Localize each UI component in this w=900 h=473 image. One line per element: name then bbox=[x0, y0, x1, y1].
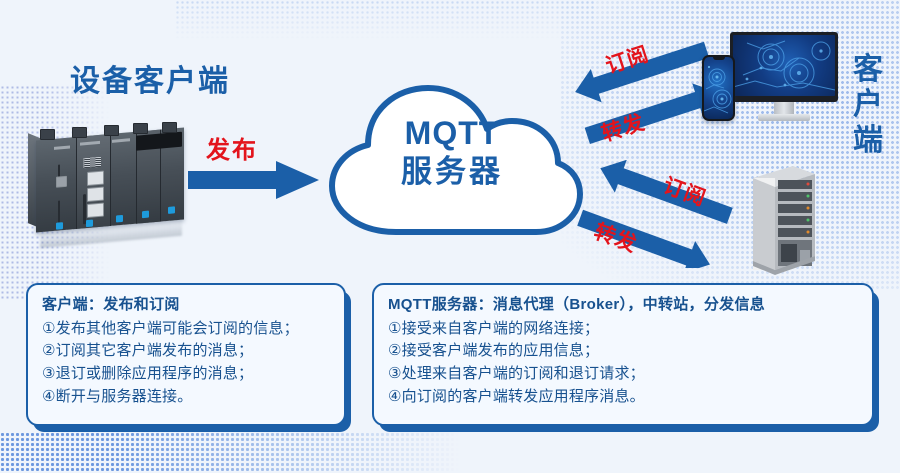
client-box-title: 客户端：发布和订阅 bbox=[42, 294, 332, 317]
monitor-bezel bbox=[730, 32, 838, 102]
monitor-stand-base bbox=[758, 114, 810, 121]
client-title-char-2: 户 bbox=[852, 87, 886, 122]
client-box-line-2: ②订阅其它客户端发布的消息； bbox=[42, 340, 332, 363]
client-box-line-1: ①发布其他客户端可能会订阅的信息； bbox=[42, 318, 332, 341]
server-rack-image bbox=[745, 160, 821, 278]
server-info-box: MQTT服务器：消息代理（Broker），中转站，分发信息 ①接受来自客户端的网… bbox=[372, 283, 874, 426]
plc-mount-tab bbox=[72, 127, 87, 138]
plc-device-image bbox=[28, 122, 188, 232]
publish-arrow-icon bbox=[188, 160, 320, 200]
monitor-stand-neck bbox=[774, 102, 794, 114]
diagram-canvas: 设备客户端 bbox=[0, 0, 900, 473]
subscribe-forward-arrows-bottom bbox=[576, 160, 736, 268]
cloud-line2: 服务器 bbox=[318, 153, 586, 192]
server-box-title: MQTT服务器：消息代理（Broker），中转站，分发信息 bbox=[388, 294, 860, 317]
halftone-pattern-top bbox=[175, 0, 595, 40]
cloud-label: MQTT 服务器 bbox=[318, 113, 586, 192]
cloud-line1: MQTT bbox=[318, 113, 586, 153]
monitor-image bbox=[730, 32, 838, 128]
client-box-line-4: ④断开与服务器连接。 bbox=[42, 386, 332, 409]
client-info-box: 客户端：发布和订阅 ①发布其他客户端可能会订阅的信息； ②订阅其它客户端发布的消… bbox=[26, 283, 346, 426]
client-box-line-3: ③退订或删除应用程序的消息； bbox=[42, 363, 332, 386]
client-title-vertical: 客 户 端 bbox=[852, 52, 886, 158]
server-box-line-1: ①接受来自客户端的网络连接； bbox=[388, 318, 860, 341]
halftone-pattern-bottom bbox=[0, 432, 470, 473]
plc-display bbox=[136, 132, 182, 151]
server-box-line-2: ②接受客户端发布的应用信息； bbox=[388, 340, 860, 363]
plc-mount-tab bbox=[162, 122, 177, 133]
monitor-screen bbox=[733, 35, 835, 96]
plc-mount-tab bbox=[104, 125, 119, 136]
client-title-char-1: 客 bbox=[852, 52, 886, 87]
plc-mount-tab bbox=[133, 123, 148, 134]
phone-screen bbox=[704, 57, 733, 119]
plc-mount-tab bbox=[40, 129, 55, 140]
server-box-line-3: ③处理来自客户端的订阅和退订请求； bbox=[388, 363, 860, 386]
phone-notch bbox=[713, 57, 725, 60]
server-box-line-4: ④向订阅的客户端转发应用程序消息。 bbox=[388, 386, 860, 409]
client-title-char-3: 端 bbox=[852, 123, 886, 158]
smartphone-image bbox=[702, 55, 735, 121]
device-client-title: 设备客户端 bbox=[70, 56, 230, 100]
plc-body bbox=[36, 128, 184, 233]
